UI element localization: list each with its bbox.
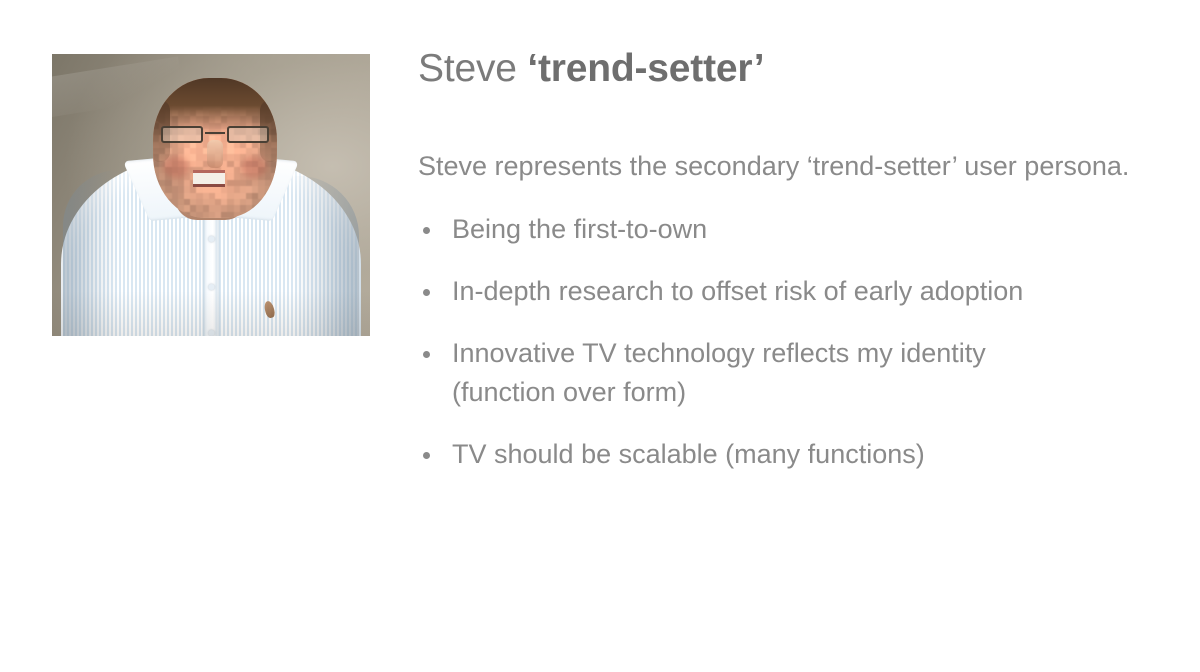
title-plain: Steve — [418, 47, 527, 90]
list-item-label: Innovative TV technology reflects my ide… — [452, 338, 986, 407]
glasses-lens-left — [161, 126, 203, 143]
glasses-icon — [159, 126, 271, 143]
persona-content: Steve ‘trend-setter’ Steve represents th… — [418, 44, 1158, 474]
shirt-shadow-left — [63, 170, 119, 336]
bullet-dot-icon — [423, 452, 430, 459]
mouth — [193, 173, 225, 184]
list-item-label: TV should be scalable (many functions) — [452, 439, 925, 469]
bullet-dot-icon — [423, 351, 430, 358]
bullet-dot-icon — [423, 289, 430, 296]
glasses-bridge — [205, 132, 225, 134]
glasses-lens-right — [227, 126, 269, 143]
cheek-left — [163, 156, 189, 178]
cheek-right — [241, 156, 267, 178]
list-item: Being the first-to-own — [418, 210, 1092, 249]
hair — [153, 78, 277, 128]
bullet-dot-icon — [423, 227, 430, 234]
persona-photo — [52, 54, 370, 336]
shirt-button — [208, 236, 214, 242]
persona-bullet-list: Being the first-to-own In-depth research… — [418, 210, 1158, 474]
list-item-label: In-depth research to offset risk of earl… — [452, 276, 1023, 306]
list-item: In-depth research to offset risk of earl… — [418, 272, 1092, 311]
shirt-button — [208, 330, 214, 336]
list-item: Innovative TV technology reflects my ide… — [418, 334, 1092, 412]
persona-intro: Steve represents the secondary ‘trend-se… — [418, 147, 1138, 186]
page-title: Steve ‘trend-setter’ — [418, 44, 1158, 94]
list-item-label: Being the first-to-own — [452, 214, 707, 244]
pixelated-face — [153, 78, 277, 218]
shirt-button — [208, 284, 214, 290]
nose — [207, 140, 223, 168]
persona-slide: Steve ‘trend-setter’ Steve represents th… — [0, 0, 1200, 672]
list-item: TV should be scalable (many functions) — [418, 435, 1092, 474]
title-emphasis: ‘trend-setter’ — [527, 47, 764, 90]
